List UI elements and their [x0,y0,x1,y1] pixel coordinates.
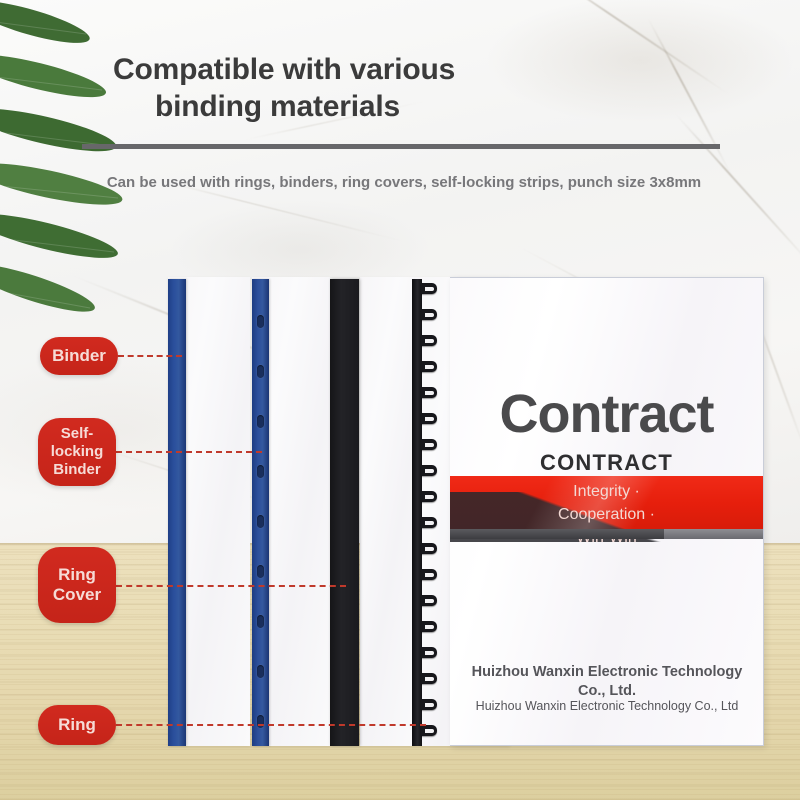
binding-ring [421,439,437,450]
punch-hole [257,565,264,578]
binding-ring [421,465,437,476]
contract-cover: Contract CONTRACT Integrity ·Cooperation… [450,277,764,746]
binding-ring [421,595,437,606]
comb-binding-rings [412,277,442,746]
leader-line-ring-cover [116,585,346,587]
binding-ring [421,569,437,580]
punch-hole [257,465,264,478]
product-marketing-image: Compatible with various binding material… [0,0,800,800]
self-locking-binder-strip [252,279,269,746]
contract-subtitle: CONTRACT [450,450,763,476]
annotation-badge-binder[interactable]: Binder [40,337,118,375]
binding-ring [421,361,437,372]
binding-ring [421,491,437,502]
cover-gray-stripe-highlight [664,529,764,539]
binding-ring [421,725,437,736]
annotation-badge-ring-cover[interactable]: Ring Cover [38,547,116,623]
punch-hole [257,615,264,628]
annotation-badge-self-locking-binder[interactable]: Self-locking Binder [38,418,116,486]
punch-hole [257,315,264,328]
paper-sheet [360,277,415,746]
binding-ring [421,647,437,658]
binding-ring [421,699,437,710]
title-line-2: binding materials [113,89,673,126]
page-title: Compatible with various binding material… [113,52,673,125]
heading-divider [82,144,720,149]
annotation-label-ring: Ring [58,715,96,735]
binder-spine-strip [168,279,186,746]
ring-cover-strip [330,279,359,746]
punch-hole [257,415,264,428]
binding-ring [421,413,437,424]
binding-ring [421,335,437,346]
binding-ring [421,309,437,320]
leader-line-ring [116,724,426,726]
annotation-badge-ring[interactable]: Ring [38,705,116,745]
binding-ring [421,517,437,528]
punch-hole [257,665,264,678]
binding-ring [421,673,437,684]
punch-hole [257,715,264,728]
annotation-label-binder: Binder [52,346,106,366]
company-name-bold: Huizhou Wanxin Electronic Technology Co.… [460,663,754,701]
contract-slogan: Integrity ·Cooperation ·Win-Win [450,480,763,550]
annotation-label-ring-cover: Ring Cover [53,565,101,605]
contract-title: Contract [450,383,763,445]
palm-leaf-decoration [0,0,216,320]
punch-hole [257,365,264,378]
binding-ring [421,387,437,398]
binding-ring [421,283,437,294]
title-line-1: Compatible with various [113,53,455,86]
punch-hole [257,515,264,528]
leader-line-self-locking-binder [116,451,262,453]
binding-ring [421,543,437,554]
leader-line-binder [118,355,182,357]
document-stack: Contract CONTRACT Integrity ·Cooperation… [160,277,764,746]
page-subtitle: Can be used with rings, binders, ring co… [104,172,704,195]
annotation-label-self-locking-binder: Self-locking Binder [38,425,116,478]
binding-ring [421,621,437,632]
company-name-light: Huizhou Wanxin Electronic Technology Co.… [460,699,754,713]
